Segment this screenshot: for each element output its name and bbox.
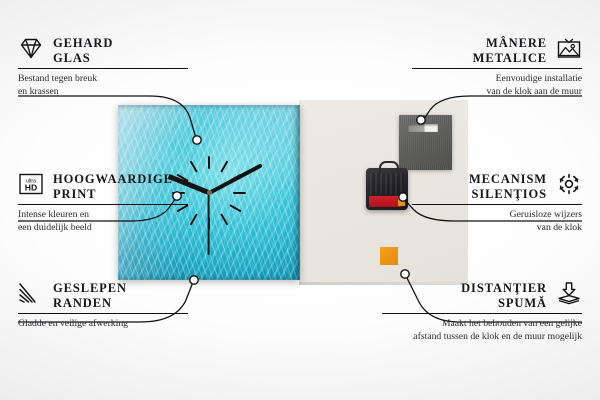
callout-title-line2: RANDEN [53,296,127,311]
beveled-edges-icon [18,281,44,305]
callout-foam-spacer: DISTANŢIER SPUMĂ Maakt het behouden van … [382,281,582,344]
callout-desc-line1: Bestand tegen breuk [18,73,188,86]
callout-rule [18,68,188,69]
callout-title-line2: PRINT [53,187,173,202]
callout-title-line2: METALICE [473,51,547,66]
callout-desc-line1: Geruisloze wijzers [412,209,582,222]
callout-title-words: DISTANŢIER SPUMĂ [461,281,547,310]
callout-title-row: GESLEPEN RANDEN [18,281,188,310]
clock-second-hand [208,193,210,255]
callout-title-words: GESLEPEN RANDEN [53,281,127,310]
callout-title-words: HOOGWAARDIGE PRINT [53,172,173,201]
callout-title-words: GEHARD GLAS [53,36,113,65]
callout-desc-line2: van de klok [412,222,582,235]
callout-hd-print: ultra HD HOOGWAARDIGE PRINT Intense kleu… [18,172,188,235]
mechanism-housing-ribs [370,173,404,195]
callout-title-row: ultra HD HOOGWAARDIGE PRINT [18,172,188,201]
hanger-keyhole-slot [408,124,438,132]
callout-tempered-glass: GEHARD GLAS Bestand tegen breuk en krass… [18,36,188,99]
gear-icon [556,172,582,196]
diamond-icon [18,36,44,60]
callout-desc-line2: van de klok aan de muur [412,86,582,99]
callout-silent-mechanism: MECANISM SILENŢIOS Geruisloze wijzers va… [412,172,582,235]
callout-rule [382,313,582,314]
metal-hanger-plate [399,115,452,170]
callout-desc-line1: Intense kleuren en [18,209,188,222]
callout-metal-handles: MÂNERE METALICE Eenvoudige installatie v… [412,36,582,99]
press-pad-icon [556,281,582,305]
callout-title-line1: MECANISM [469,172,547,187]
callout-desc: Bestand tegen breuk en krassen [18,73,188,99]
callout-rule [412,68,582,69]
callout-title-words: MECANISM SILENŢIOS [469,172,547,201]
picture-frame-icon [556,36,582,60]
callout-desc: Intense kleuren en een duidelijk beeld [18,209,188,235]
svg-text:HD: HD [25,183,37,193]
callout-title-line2: SILENŢIOS [469,187,547,202]
callout-title-line2: GLAS [53,51,113,66]
callout-title-row: DISTANŢIER SPUMĂ [382,281,582,310]
ultra-hd-icon: ultra HD [18,172,44,196]
callout-desc: Geruisloze wijzers van de klok [412,209,582,235]
infographic-canvas: GEHARD GLAS Bestand tegen breuk en krass… [0,0,600,400]
callout-desc-line2: en krassen [18,86,188,99]
quartz-clock-mechanism [366,168,408,210]
callout-title-row: MECANISM SILENŢIOS [412,172,582,201]
callout-desc-line1: Eenvoudige installatie [412,73,582,86]
callout-title-line1: GESLEPEN [53,281,127,296]
callout-title-line1: HOOGWAARDIGE [53,172,173,187]
callout-title-line1: GEHARD [53,36,113,51]
callout-title-line1: MÂNERE [473,36,547,51]
callout-title-line1: DISTANŢIER [461,281,547,296]
mechanism-hanger-bail [379,161,399,173]
mechanism-battery [369,196,402,207]
callout-title-line2: SPUMĂ [461,296,547,311]
callout-title-words: MÂNERE METALICE [473,36,547,65]
callout-desc-line1: Maakt het behouden van een gelijke [382,318,582,331]
callout-rule [18,313,188,314]
callout-desc-line2: een duidelijk beeld [18,222,188,235]
callout-title-row: MÂNERE METALICE [412,36,582,65]
callout-title-row: GEHARD GLAS [18,36,188,65]
callout-desc: Maakt het behouden van een gelijke afsta… [382,318,582,344]
callout-desc: Gladde en veilige afwerking [18,318,188,331]
callout-ground-edges: GESLEPEN RANDEN Gladde en veilige afwerk… [18,281,188,331]
foam-spacer [380,247,398,265]
callout-rule [18,204,188,205]
callout-desc-line1: Gladde en veilige afwerking [18,318,188,331]
callout-desc-line2: afstand tussen de klok en de muur mogeli… [382,331,582,344]
callout-rule [412,204,582,205]
callout-desc: Eenvoudige installatie van de klok aan d… [412,73,582,99]
clock-center-cap [207,190,212,195]
